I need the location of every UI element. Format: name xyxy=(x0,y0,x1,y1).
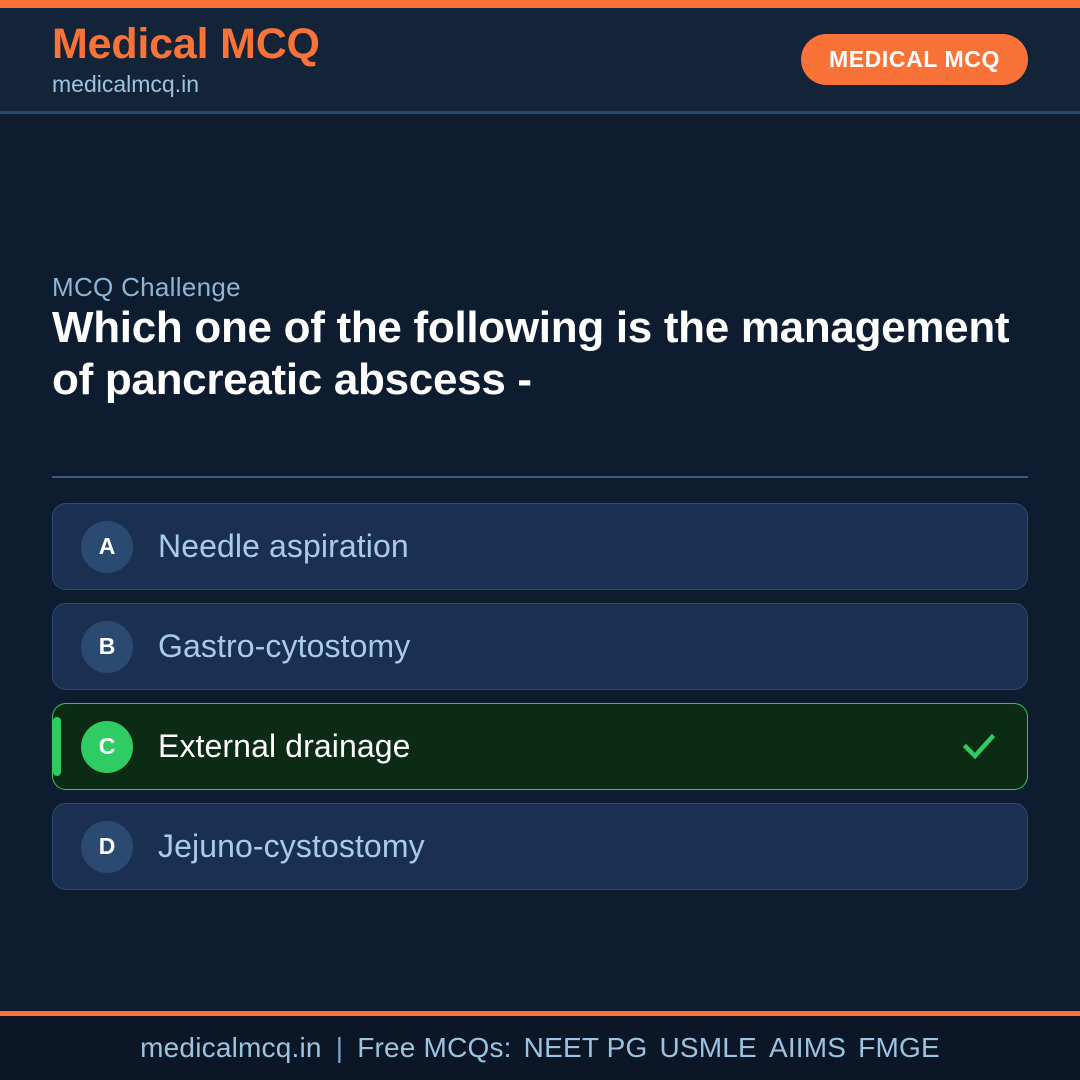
brand-badge: MEDICAL MCQ xyxy=(801,34,1028,85)
brand-subtitle: medicalmcq.in xyxy=(52,73,320,96)
question-divider xyxy=(52,476,1028,478)
top-accent-bar xyxy=(0,0,1080,8)
brand-block: Medical MCQ medicalmcq.in xyxy=(52,23,320,96)
question-text: Which one of the following is the manage… xyxy=(52,302,1012,407)
footer-site: medicalmcq.in xyxy=(140,1032,322,1063)
footer: medicalmcq.in|Free MCQs:NEET PGUSMLEAIIM… xyxy=(0,1011,1080,1080)
footer-text: medicalmcq.in|Free MCQs:NEET PGUSMLEAIIM… xyxy=(140,1032,940,1064)
options-list: A Needle aspiration B Gastro-cytostomy C… xyxy=(52,503,1028,890)
header: Medical MCQ medicalmcq.in MEDICAL MCQ xyxy=(0,8,1080,114)
footer-tag-aiims: AIIMS xyxy=(757,1032,846,1063)
option-letter-d: D xyxy=(81,821,133,873)
option-row-a[interactable]: A Needle aspiration xyxy=(52,503,1028,590)
footer-label: Free MCQs: xyxy=(357,1032,511,1063)
correct-accent-bar xyxy=(53,717,61,776)
eyebrow-label: MCQ Challenge xyxy=(52,272,241,303)
footer-tag-neet-pg: NEET PG xyxy=(512,1032,648,1063)
check-icon xyxy=(961,729,997,765)
option-letter-a: A xyxy=(81,521,133,573)
option-text-d: Jejuno-cystostomy xyxy=(158,828,425,865)
option-letter-b: B xyxy=(81,621,133,673)
brand-title: Medical MCQ xyxy=(52,23,320,66)
footer-tag-usmle: USMLE xyxy=(647,1032,756,1063)
option-row-d[interactable]: D Jejuno-cystostomy xyxy=(52,803,1028,890)
option-row-b[interactable]: B Gastro-cytostomy xyxy=(52,603,1028,690)
option-text-a: Needle aspiration xyxy=(158,528,409,565)
main-content: MCQ Challenge Which one of the following… xyxy=(0,114,1080,1011)
option-row-c[interactable]: C External drainage xyxy=(52,703,1028,790)
mcq-card: Medical MCQ medicalmcq.in MEDICAL MCQ MC… xyxy=(0,0,1080,1080)
footer-tag-fmge: FMGE xyxy=(846,1032,940,1063)
option-text-b: Gastro-cytostomy xyxy=(158,628,410,665)
option-letter-c: C xyxy=(81,721,133,773)
option-text-c: External drainage xyxy=(158,728,411,765)
footer-separator: | xyxy=(322,1032,357,1063)
